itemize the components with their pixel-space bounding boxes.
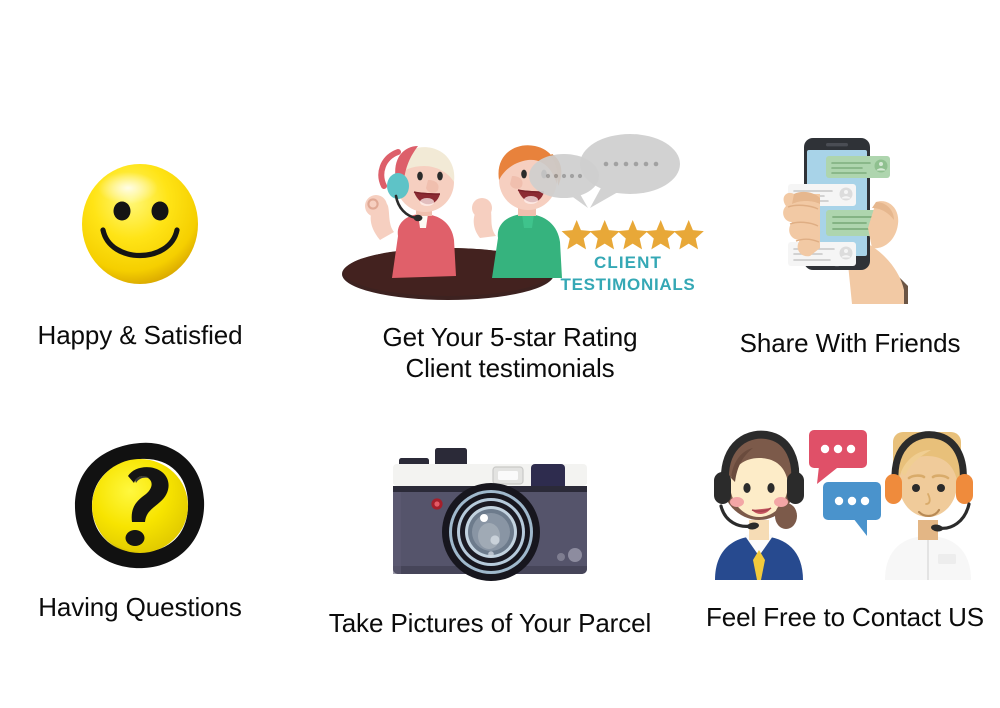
agent-female (714, 435, 804, 580)
feature-caption-share: Share With Friends (740, 328, 961, 359)
feature-caption-contact: Feel Free to Contact US (706, 602, 984, 633)
feature-cell-share: Share With Friends (700, 132, 1000, 359)
smiley-face-icon (76, 160, 204, 288)
feature-cell-camera: Take Pictures of Your Parcel (290, 440, 690, 639)
feature-caption-rating-line1: Get Your 5-star Rating (382, 322, 637, 353)
feature-caption-rating-line2: Client testimonials (382, 353, 637, 384)
caption-wrap: Share With Friends (740, 328, 961, 359)
feature-caption-questions: Having Questions (38, 592, 242, 623)
badge-line-client: CLIENT (594, 253, 662, 272)
speech-bubble-large (580, 134, 680, 208)
caption-wrap: Having Questions (38, 592, 242, 623)
caption-wrap: Take Pictures of Your Parcel (329, 608, 651, 639)
chat-bubble-blue (823, 482, 881, 536)
hand-holding-phone-chat-icon (776, 132, 924, 304)
feature-cell-rating: CLIENT TESTIMONIALS Get Your 5-star Rati… (330, 132, 690, 384)
feature-grid: Happy & Satisfied (0, 0, 1000, 708)
support-agents-icon (695, 420, 995, 580)
chat-bubble-pink (809, 430, 867, 484)
agent-male (885, 432, 973, 580)
caption-wrap: Happy & Satisfied (38, 320, 243, 351)
caption-wrap: Feel Free to Contact US (706, 602, 984, 633)
feature-caption-camera: Take Pictures of Your Parcel (329, 608, 651, 639)
caption-wrap: Get Your 5-star Rating Client testimonia… (382, 322, 637, 384)
feature-cell-contact: Feel Free to Contact US (690, 420, 1000, 633)
camera-icon (385, 440, 595, 588)
client-testimonials-illustration: CLIENT TESTIMONIALS (332, 132, 688, 300)
chat-bubble-green-1 (826, 156, 890, 178)
question-mark-badge-icon (72, 440, 208, 570)
rating-stars (562, 220, 704, 249)
feature-cell-happy: Happy & Satisfied (0, 160, 280, 351)
feature-cell-questions: Having Questions (0, 440, 280, 623)
feature-caption-happy: Happy & Satisfied (38, 320, 243, 351)
badge-line-testimonials: TESTIMONIALS (561, 275, 696, 294)
